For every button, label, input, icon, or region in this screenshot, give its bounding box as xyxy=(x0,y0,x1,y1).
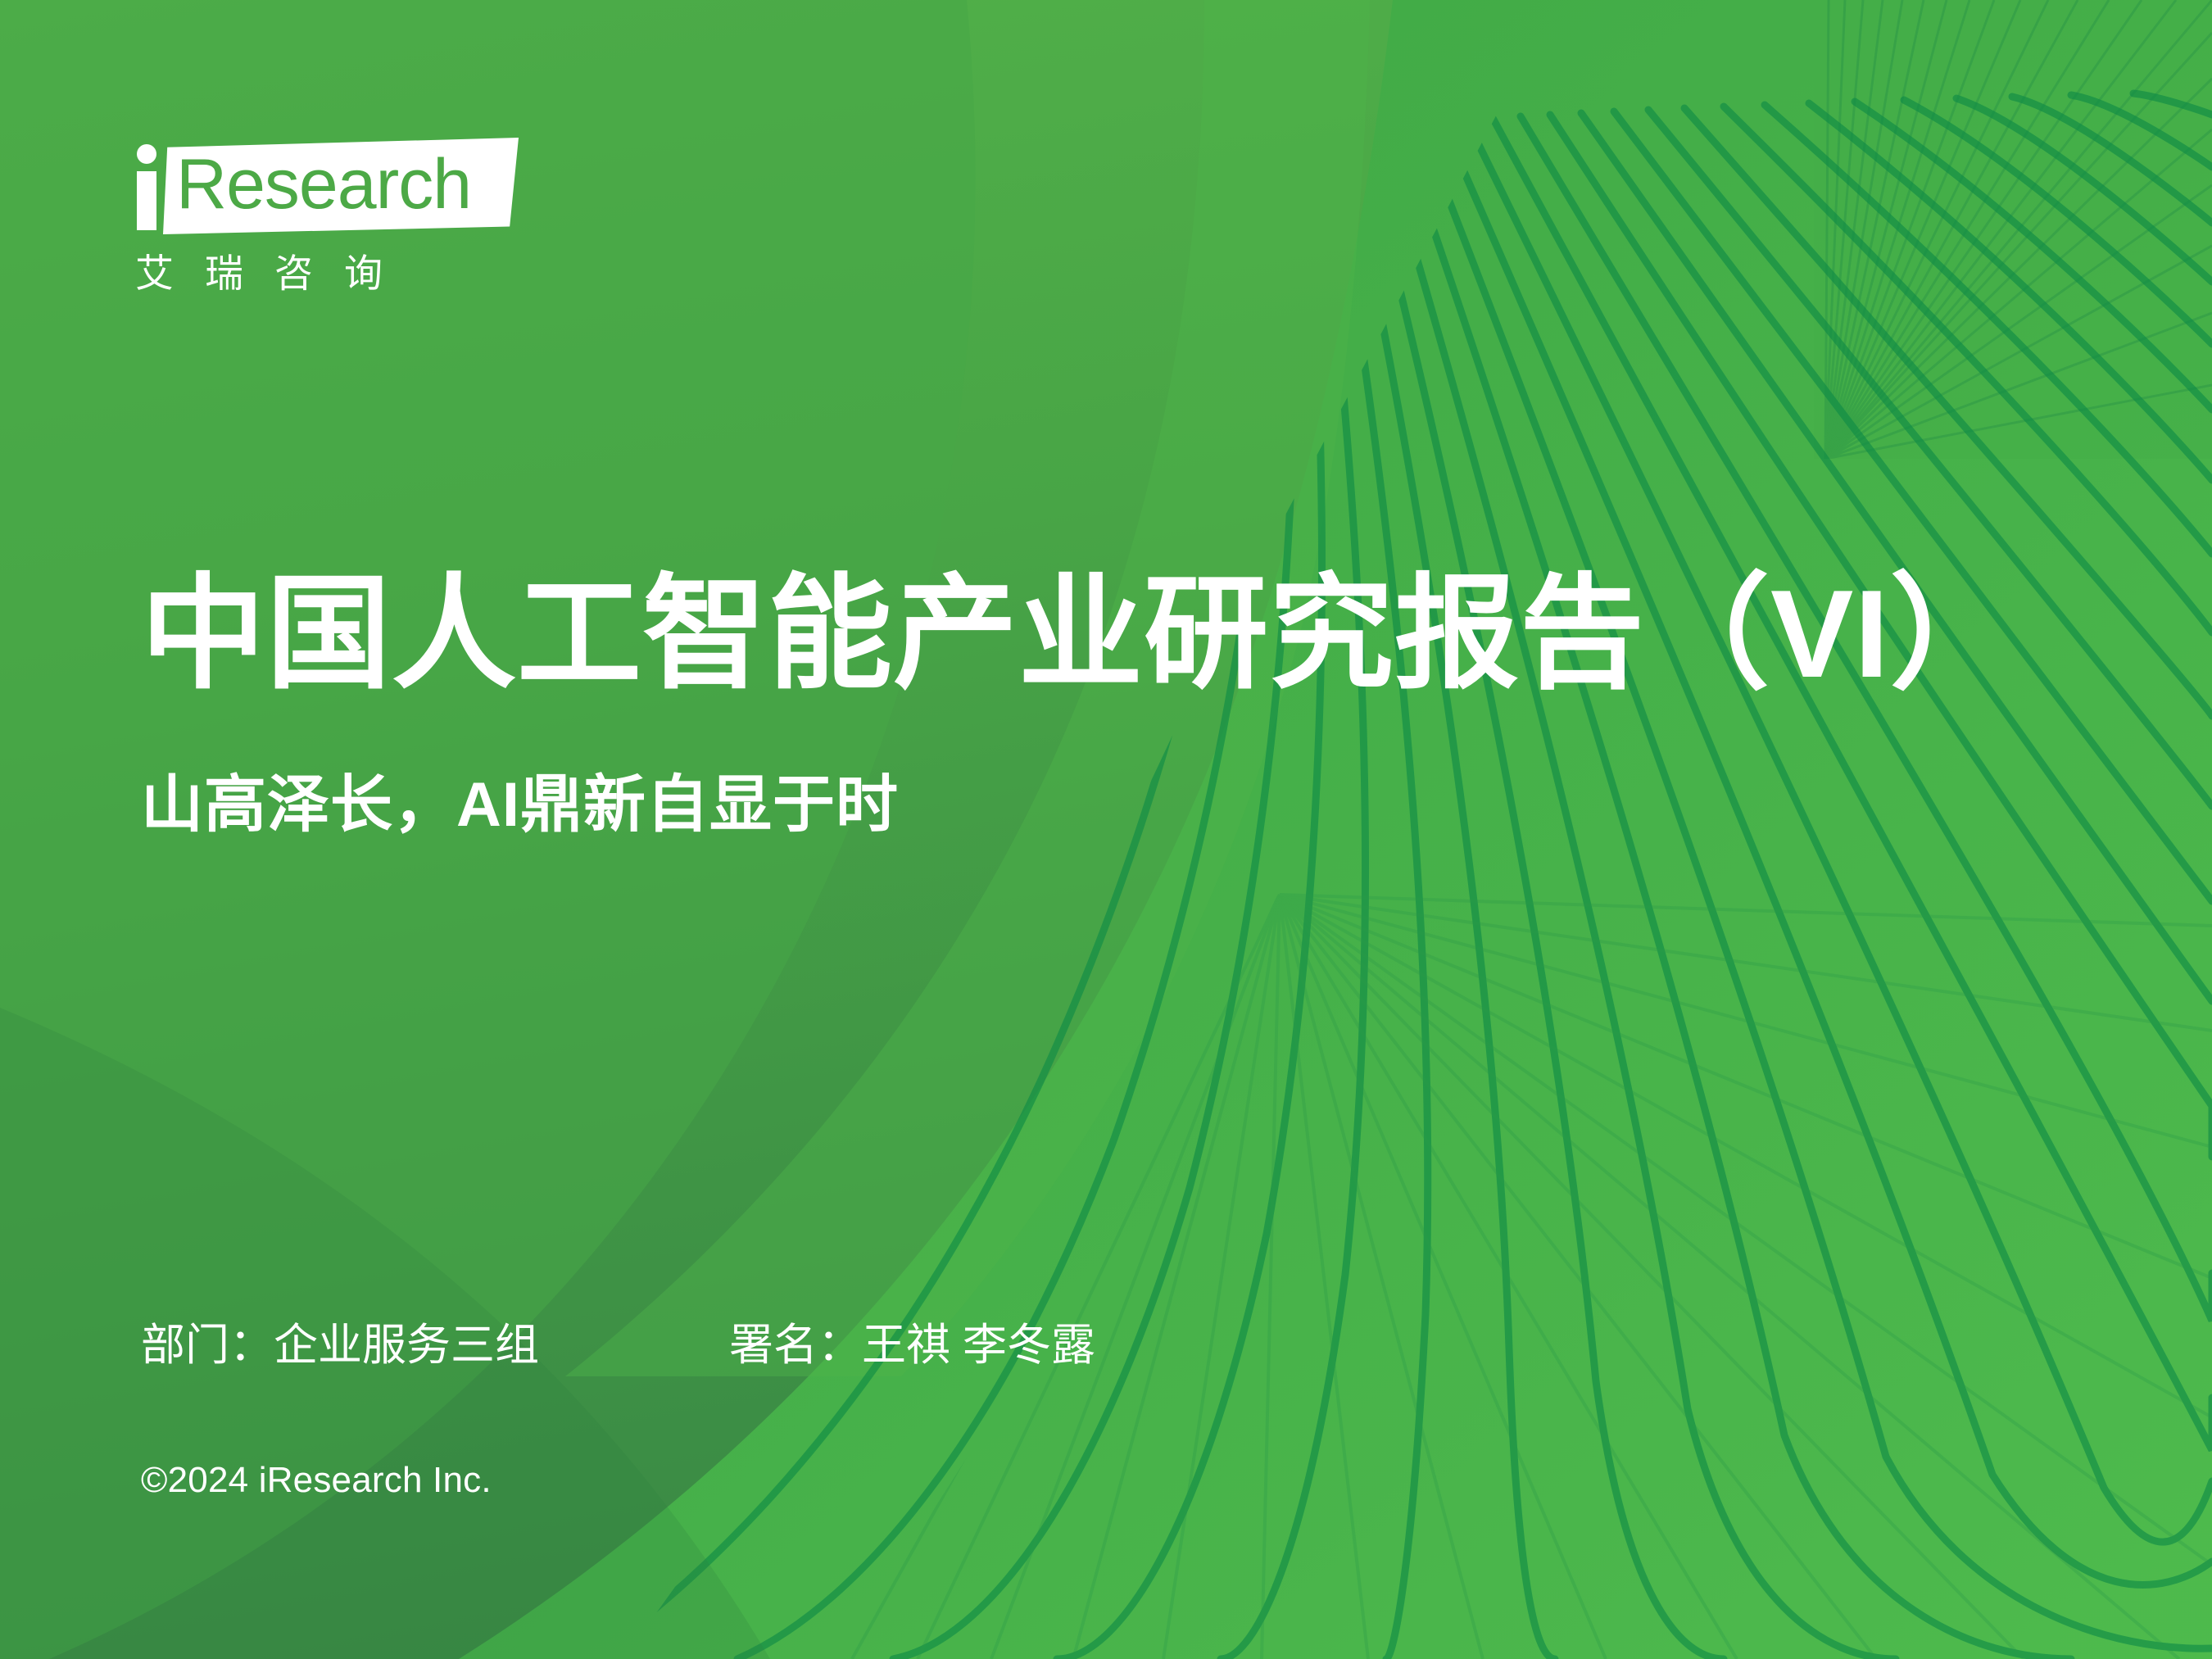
logo-i-dot-icon xyxy=(137,144,156,164)
iresearch-logo: Research 艾瑞咨询 xyxy=(134,138,641,301)
background-lower-ray-fan xyxy=(852,895,2212,1659)
background-radial-fan xyxy=(459,93,2212,1659)
logo-wordmark: Research xyxy=(176,149,471,220)
headline-block: 中国人工智能产业研究报告（VI） 山高泽长，AI鼎新自显于时 xyxy=(141,565,2124,842)
report-cover-slide: Research 艾瑞咨询 中国人工智能产业研究报告（VI） 山高泽长，AI鼎新… xyxy=(0,0,2212,1659)
meta-signature: 署名：王祺 李冬露 xyxy=(729,1318,1095,1372)
logo-i-stem-icon xyxy=(137,171,156,230)
report-title: 中国人工智能产业研究报告（VI） xyxy=(141,565,2124,703)
meta-department: 部门：企业服务三组 xyxy=(141,1318,539,1372)
copyright-notice: ©2024 iResearch Inc. xyxy=(141,1457,492,1503)
logo-mark: Research xyxy=(134,138,519,234)
report-subtitle: 山高泽长，AI鼎新自显于时 xyxy=(141,768,2124,842)
meta-row: 部门：企业服务三组 署名：王祺 李冬露 xyxy=(141,1318,1095,1372)
logo-subtitle-cn: 艾瑞咨询 xyxy=(135,252,414,295)
background-top-ray-fan xyxy=(1814,0,2212,459)
